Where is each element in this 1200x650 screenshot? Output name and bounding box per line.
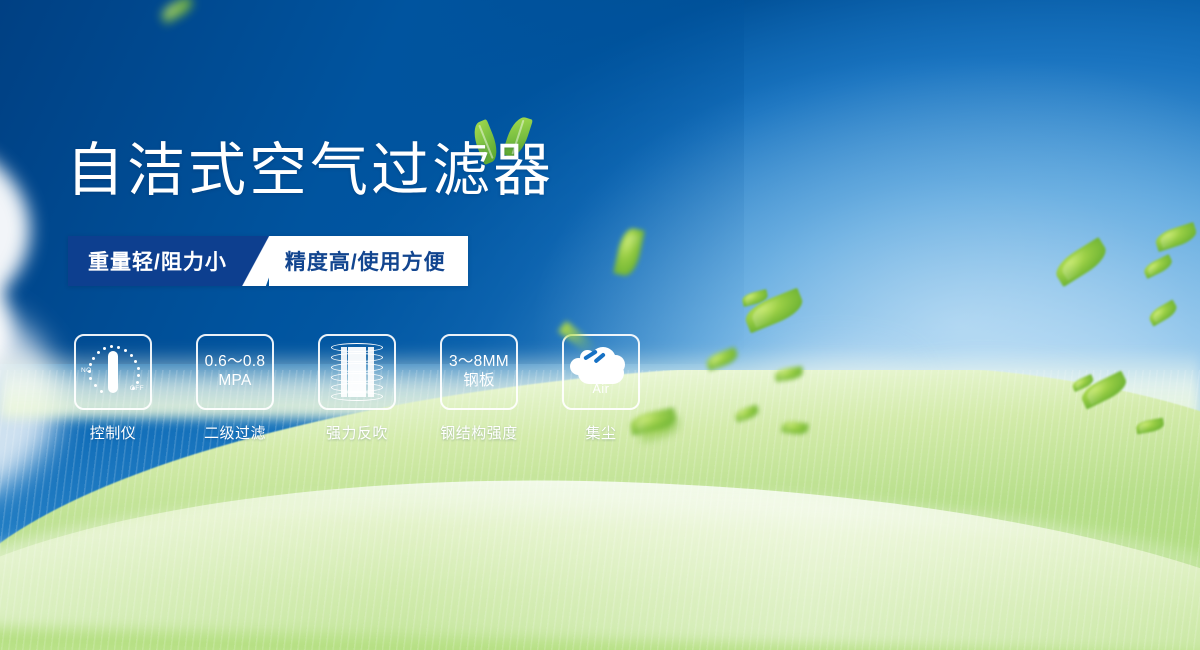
control-dial-icon: NO OFF bbox=[82, 343, 144, 401]
feature-icon-box: Air bbox=[562, 334, 640, 410]
subtitle-bar: 重量轻/阻力小 精度高/使用方便 bbox=[68, 236, 468, 286]
stack-disc bbox=[331, 373, 383, 382]
feature-icon-box: 0.6～0.8 MPA bbox=[196, 334, 274, 410]
stack-disc bbox=[331, 383, 383, 392]
feature-label: 二级过滤 bbox=[204, 422, 266, 443]
feature-label: 强力反吹 bbox=[326, 422, 388, 443]
stack-disc bbox=[331, 392, 383, 401]
stack-disc bbox=[331, 363, 383, 372]
subtitle-left: 重量轻/阻力小 bbox=[68, 236, 249, 286]
air-label: Air bbox=[570, 382, 632, 396]
filter-stack-icon bbox=[331, 343, 383, 401]
pressure-unit: MPA bbox=[205, 372, 266, 391]
dial-pointer bbox=[108, 351, 118, 393]
feature-icon-box bbox=[318, 334, 396, 410]
feature-list: NO OFF bbox=[68, 334, 646, 443]
product-banner: 自洁式空气过滤器 重量轻/阻力小 精度高/使用方便 NO OFF bbox=[0, 0, 1200, 650]
steel-thickness: 3～8MM bbox=[449, 353, 509, 372]
air-cloud-icon: Air bbox=[570, 344, 632, 400]
steel-material: 钢板 bbox=[449, 372, 509, 391]
pressure-value: 0.6～0.8 bbox=[205, 353, 266, 372]
feature-item-controller[interactable]: NO OFF bbox=[68, 334, 158, 443]
feature-item-pressure[interactable]: 0.6～0.8 MPA 二级过滤 bbox=[190, 334, 280, 443]
steel-plate-text-icon: 3～8MM 钢板 bbox=[449, 353, 509, 391]
pressure-text-icon: 0.6～0.8 MPA bbox=[205, 353, 266, 391]
feature-icon-box: NO OFF bbox=[74, 334, 152, 410]
stack-disc bbox=[331, 353, 383, 362]
feature-icon-box: 3～8MM 钢板 bbox=[440, 334, 518, 410]
feature-label: 集尘 bbox=[585, 422, 616, 443]
feature-item-steel[interactable]: 3～8MM 钢板 钢结构强度 bbox=[434, 334, 524, 443]
feature-label: 控制仪 bbox=[90, 422, 137, 443]
feature-label: 钢结构强度 bbox=[440, 422, 518, 443]
stack-disc bbox=[331, 343, 383, 352]
page-title: 自洁式空气过滤器 bbox=[66, 142, 554, 200]
feature-item-backblow[interactable]: 强力反吹 bbox=[312, 334, 402, 443]
cloud-body bbox=[578, 362, 624, 384]
subtitle-right: 精度高/使用方便 bbox=[269, 236, 468, 286]
